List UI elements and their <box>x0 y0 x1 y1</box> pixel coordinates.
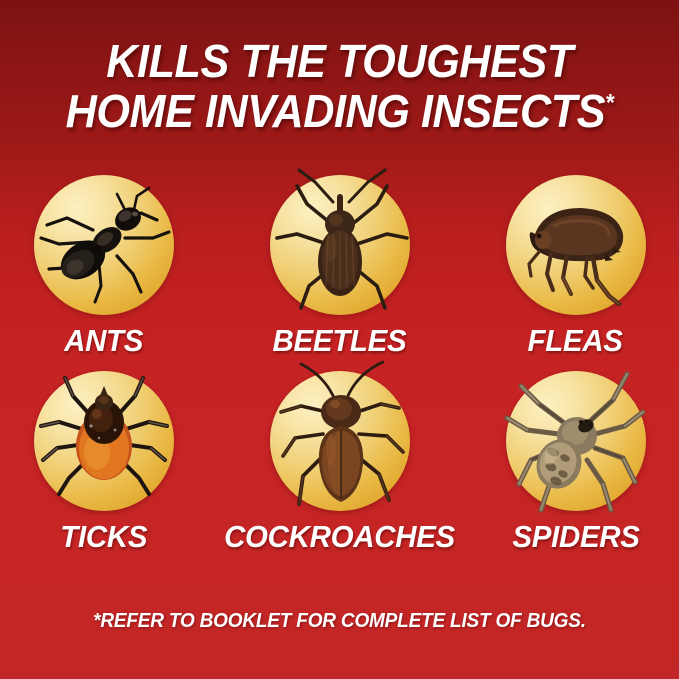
bug-cell-ants: ANTS <box>29 168 179 358</box>
headline-line-2-text: HOME INVADING INSECTS <box>66 85 605 137</box>
bug-disc-beetles <box>265 168 415 318</box>
bug-label-cockroaches: COCKROACHES <box>224 520 455 554</box>
bug-label-spiders: SPIDERS <box>512 520 639 554</box>
bug-disc-ticks <box>29 364 179 514</box>
headline-line-1: KILLS THE TOUGHEST <box>20 36 658 86</box>
page-title: KILLS THE TOUGHEST HOME INVADING INSECTS… <box>20 36 658 136</box>
bug-cell-fleas: FLEAS <box>501 168 651 358</box>
bug-row: TICKS <box>0 364 679 554</box>
spider-icon <box>501 364 651 514</box>
pest-control-promo-banner: KILLS THE TOUGHEST HOME INVADING INSECTS… <box>0 0 679 679</box>
bug-disc-spiders <box>501 364 651 514</box>
cockroach-icon <box>265 364 415 514</box>
bug-disc-fleas <box>501 168 651 318</box>
beetle-icon <box>265 168 415 318</box>
bug-grid: ANTS <box>0 168 679 560</box>
bug-label-ants: ANTS <box>64 324 143 358</box>
headline-asterisk: * <box>605 90 613 117</box>
tick-icon <box>29 364 179 514</box>
bug-cell-spiders: SPIDERS <box>501 364 651 554</box>
bug-cell-beetles: BEETLES <box>265 168 415 358</box>
bug-disc-ants <box>29 168 179 318</box>
bug-cell-ticks: TICKS <box>29 364 179 554</box>
flea-icon <box>501 168 651 318</box>
bug-label-beetles: BEETLES <box>273 324 407 358</box>
ant-icon <box>29 168 179 318</box>
headline-line-2: HOME INVADING INSECTS* <box>20 86 658 136</box>
bug-disc-cockroaches <box>265 364 415 514</box>
bug-label-ticks: TICKS <box>60 520 147 554</box>
footnote-disclaimer: *REFER TO BOOKLET FOR COMPLETE LIST OF B… <box>17 610 662 633</box>
bug-label-fleas: FLEAS <box>528 324 623 358</box>
bug-cell-cockroaches: COCKROACHES <box>265 364 415 554</box>
bug-row: ANTS <box>0 168 679 358</box>
